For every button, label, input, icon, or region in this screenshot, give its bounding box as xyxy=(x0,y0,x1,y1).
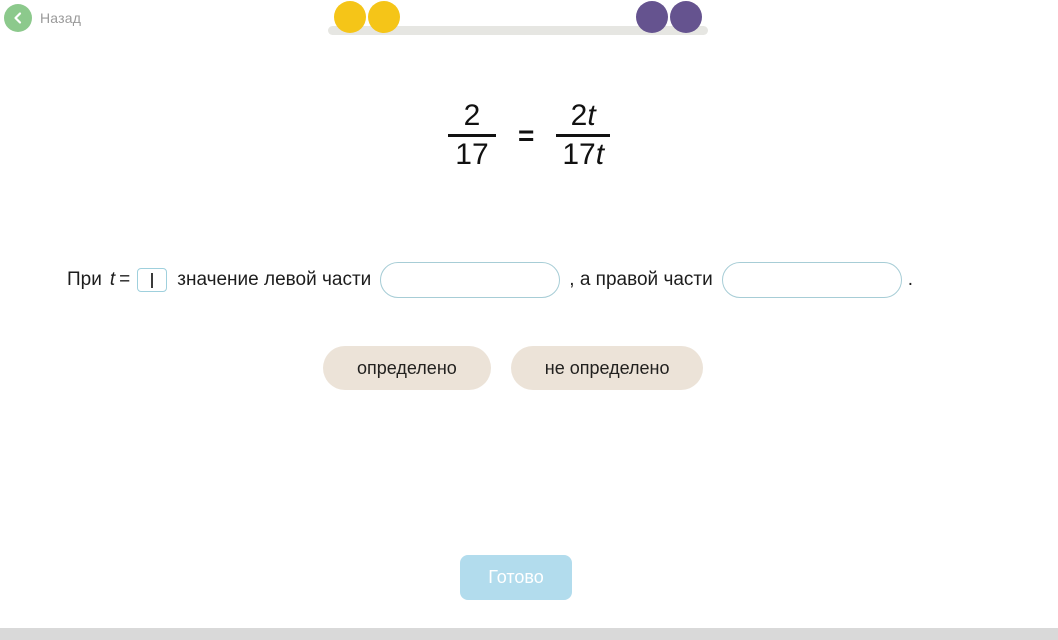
back-button[interactable]: Назад xyxy=(4,4,81,32)
right-fraction-numerator: 2t xyxy=(565,100,602,134)
right-fraction: 2t 17t xyxy=(556,100,610,170)
sentence-part-2: значение левой части xyxy=(177,269,371,291)
progress-dot-3 xyxy=(636,1,668,33)
lesson-page: Назад 2 17 = 2t 17t При t = значение лев… xyxy=(0,0,1058,628)
variable-value-input[interactable] xyxy=(137,268,167,292)
option-defined-button[interactable]: определено xyxy=(323,346,491,390)
right-fraction-denominator: 17t xyxy=(556,137,610,171)
equals-sign: = xyxy=(518,120,534,152)
submit-button[interactable]: Готово xyxy=(460,555,572,600)
answer-sentence: При t = значение левой части , а правой … xyxy=(64,262,913,298)
progress-indicator xyxy=(328,0,708,44)
right-denominator-coefficient: 17 xyxy=(562,138,595,171)
left-fraction: 2 17 xyxy=(448,100,496,170)
option-buttons: определено не определено xyxy=(323,346,703,390)
back-button-label: Назад xyxy=(40,10,81,26)
option-undefined-button[interactable]: не определено xyxy=(511,346,704,390)
right-numerator-coefficient: 2 xyxy=(571,99,588,132)
sentence-part-3: , а правой части xyxy=(569,269,712,291)
page-bottom-strip xyxy=(0,628,1058,640)
right-side-value-input[interactable] xyxy=(722,262,902,298)
sentence-variable: t xyxy=(110,269,115,291)
sentence-part-4: . xyxy=(908,269,913,291)
progress-dot-4 xyxy=(670,1,702,33)
right-numerator-variable: t xyxy=(587,99,595,132)
left-side-value-input[interactable] xyxy=(380,262,560,298)
chevron-left-icon xyxy=(4,4,32,32)
sentence-equals: = xyxy=(119,269,130,291)
progress-dot-2 xyxy=(368,1,400,33)
sentence-part-1: При xyxy=(67,269,102,291)
text-caret xyxy=(151,273,153,288)
right-denominator-variable: t xyxy=(596,138,604,171)
left-fraction-numerator: 2 xyxy=(458,100,487,134)
progress-dot-1 xyxy=(334,1,366,33)
equation-display: 2 17 = 2t 17t xyxy=(0,100,1058,170)
left-fraction-denominator: 17 xyxy=(449,137,494,171)
